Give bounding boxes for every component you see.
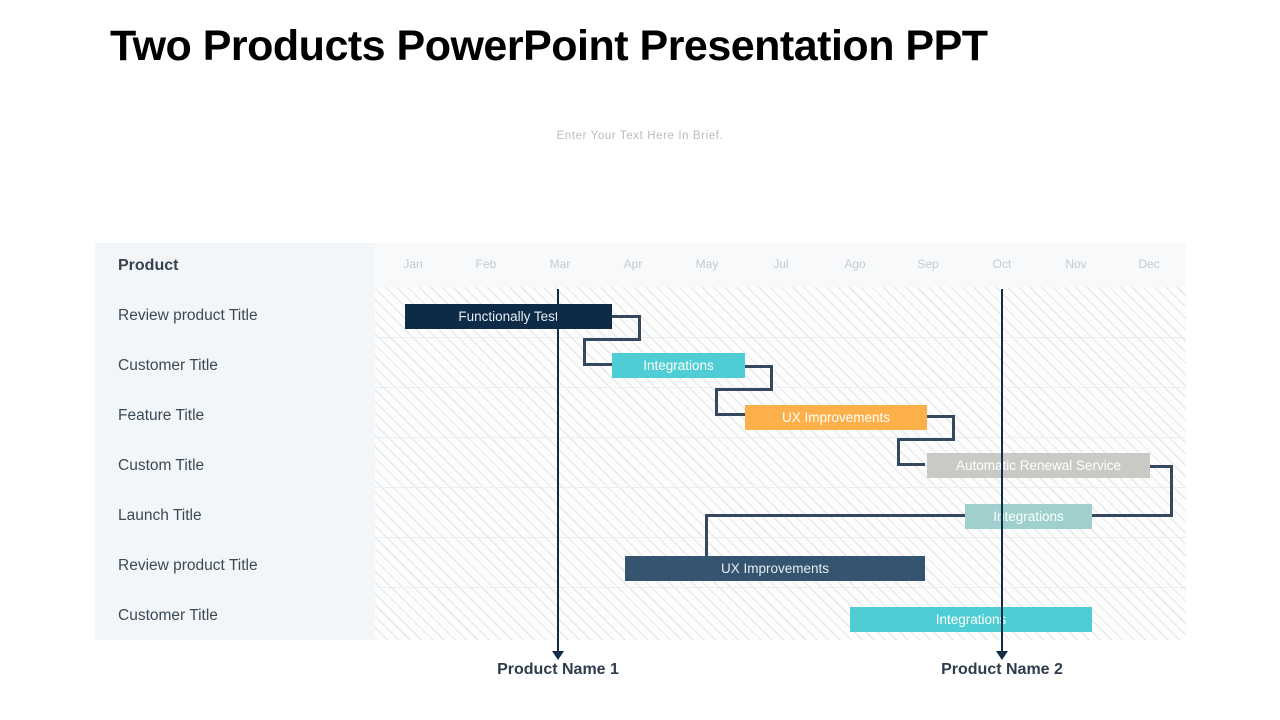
month-tick-ago: Ago	[825, 257, 885, 271]
month-tick-apr: Apr	[603, 257, 663, 271]
grid-rowline	[375, 487, 1186, 488]
month-header-row: Jan Feb Mar Apr May Jul Ago Sep Oct Nov …	[375, 243, 1186, 287]
product-name-label-2: Product Name 2	[852, 661, 1152, 679]
row-label-4: Launch Title	[118, 507, 202, 525]
connector-segment	[715, 388, 773, 391]
task-bar-integrations-1[interactable]: Integrations	[612, 353, 745, 378]
month-tick-sep: Sep	[898, 257, 958, 271]
product-marker-line-2	[1001, 289, 1003, 653]
row-label-6: Customer Title	[118, 607, 218, 625]
connector-segment	[1087, 514, 1173, 517]
task-bar-automatic-renewal-service[interactable]: Automatic Renewal Service	[927, 453, 1150, 478]
task-bar-ux-improvements-2[interactable]: UX Improvements	[625, 556, 925, 581]
grid-rowline	[375, 587, 1186, 588]
month-tick-feb: Feb	[456, 257, 516, 271]
month-tick-nov: Nov	[1046, 257, 1106, 271]
slide-canvas: Two Products PowerPoint Presentation PPT…	[0, 0, 1280, 720]
connector-segment	[609, 315, 641, 318]
month-tick-jul: Jul	[751, 257, 811, 271]
task-bar-integrations-3[interactable]: Integrations	[850, 607, 1092, 632]
row-label-5: Review product Title	[118, 557, 258, 575]
gantt-chart: Product Review product Title Customer Ti…	[95, 243, 1186, 640]
connector-segment	[715, 413, 747, 416]
product-name-label-1: Product Name 1	[408, 661, 708, 679]
column-header-product: Product	[118, 257, 178, 275]
connector-segment	[897, 463, 925, 466]
task-bar-ux-improvements-1[interactable]: UX Improvements	[745, 405, 927, 430]
month-tick-may: May	[677, 257, 737, 271]
product-marker-arrowhead-1	[552, 651, 564, 660]
connector-segment	[741, 365, 773, 368]
task-bar-functionally-test[interactable]: Functionally Test	[405, 304, 612, 329]
month-tick-dec: Dec	[1119, 257, 1179, 271]
row-label-3: Custom Title	[118, 457, 204, 475]
row-label-2: Feature Title	[118, 407, 204, 425]
task-bar-integrations-2[interactable]: Integrations	[965, 504, 1092, 529]
connector-segment	[583, 338, 641, 341]
month-tick-jan: Jan	[383, 257, 443, 271]
connector-segment	[583, 363, 613, 366]
product-marker-line-1	[557, 289, 559, 653]
grid-rowline	[375, 337, 1186, 338]
connector-segment	[583, 338, 586, 366]
connector-segment	[897, 438, 900, 466]
connector-segment	[1170, 465, 1173, 517]
month-tick-mar: Mar	[530, 257, 590, 271]
connector-segment	[923, 415, 955, 418]
timeline-grid: Functionally Test Integrations UX Improv…	[375, 287, 1186, 640]
connector-segment	[897, 438, 955, 441]
month-tick-oct: Oct	[972, 257, 1032, 271]
row-label-panel: Product Review product Title Customer Ti…	[95, 243, 375, 640]
connector-segment	[715, 388, 718, 416]
grid-rowline	[375, 537, 1186, 538]
page-title: Two Products PowerPoint Presentation PPT	[110, 22, 1180, 71]
row-label-1: Customer Title	[118, 357, 218, 375]
product-marker-arrowhead-2	[996, 651, 1008, 660]
timeline-panel: Jan Feb Mar Apr May Jul Ago Sep Oct Nov …	[375, 243, 1186, 640]
row-label-0: Review product Title	[118, 307, 258, 325]
grid-rowline	[375, 437, 1186, 438]
grid-rowline	[375, 387, 1186, 388]
slide-subtitle: Enter Your Text Here In Brief.	[0, 130, 1280, 142]
